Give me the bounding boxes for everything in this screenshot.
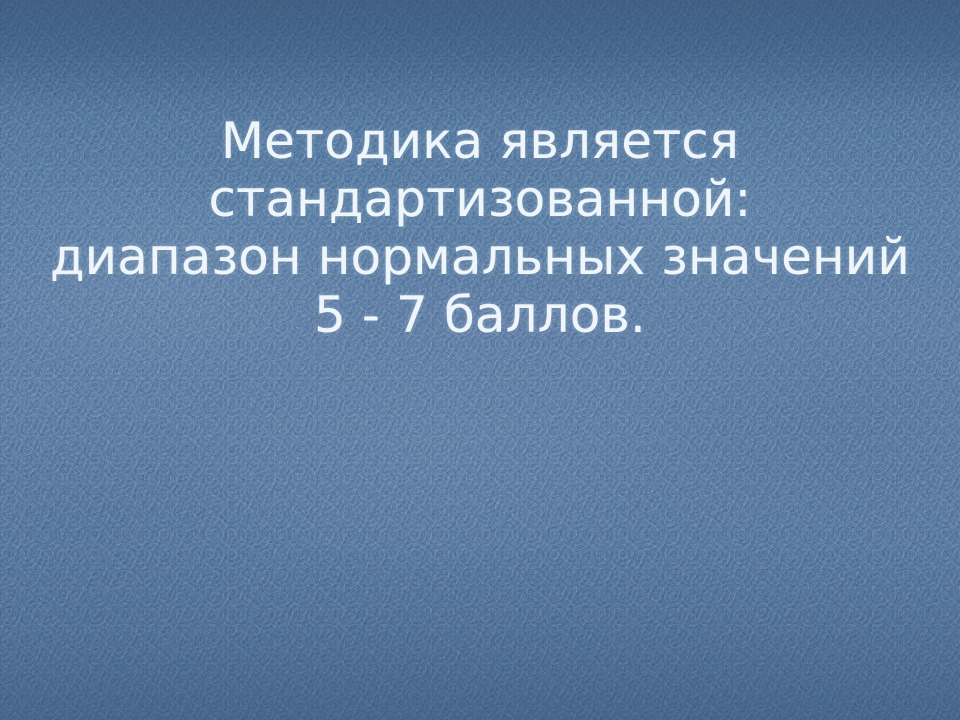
background-streak-texture (0, 0, 960, 720)
background-noise-texture (0, 0, 960, 720)
background-mottle-texture (0, 0, 960, 720)
slide-body-text: Методика является стандартизованной: диа… (0, 112, 960, 344)
presentation-slide: Методика является стандартизованной: диа… (0, 0, 960, 720)
body-line-1: Методика является (0, 112, 960, 170)
background-bottom-shading (0, 0, 960, 720)
body-line-3: диапазон нормальных значений (0, 228, 960, 286)
body-line-4: 5 - 7 баллов. (0, 286, 960, 344)
body-line-2: стандартизованной: (0, 170, 960, 228)
background-top-shading (0, 0, 960, 720)
